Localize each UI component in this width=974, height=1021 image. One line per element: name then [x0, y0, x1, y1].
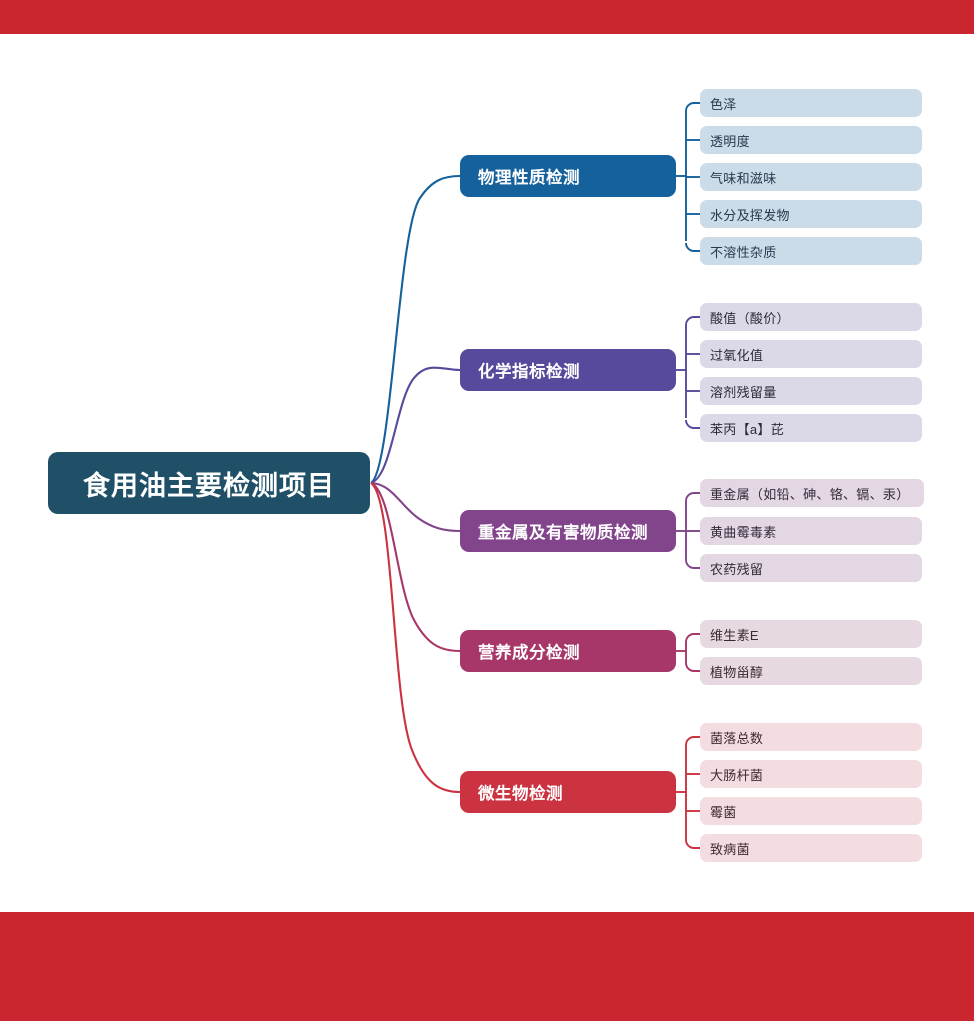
leaf-node[interactable]: 黄曲霉毒素: [700, 517, 922, 545]
bracket-branch-2: [676, 317, 700, 428]
branch-label: 营养成分检测: [478, 639, 580, 663]
leaf-label: 水分及挥发物: [710, 205, 790, 224]
leaf-label: 苯丙【a】芘: [710, 419, 784, 438]
branch-node-physical[interactable]: 物理性质检测: [460, 155, 676, 197]
leaf-node[interactable]: 苯丙【a】芘: [700, 414, 922, 442]
leaf-node[interactable]: 色泽: [700, 89, 922, 117]
bottom-red-band: [0, 912, 974, 1021]
leaf-label: 致病菌: [710, 839, 750, 858]
leaf-label: 黄曲霉毒素: [710, 522, 777, 541]
connector-root-to-branch-2: [371, 368, 460, 483]
leaf-label: 不溶性杂质: [710, 242, 777, 261]
leaf-node[interactable]: 大肠杆菌: [700, 760, 922, 788]
leaf-node[interactable]: 菌落总数: [700, 723, 922, 751]
leaf-label: 菌落总数: [710, 728, 763, 747]
leaf-label: 重金属（如铅、砷、铬、镉、汞）: [710, 484, 910, 503]
leaf-node[interactable]: 致病菌: [700, 834, 922, 862]
branch-node-heavy-metals[interactable]: 重金属及有害物质检测: [460, 510, 676, 552]
leaf-label: 酸值（酸价）: [710, 308, 790, 327]
branch-node-microbiology[interactable]: 微生物检测: [460, 771, 676, 813]
leaf-node[interactable]: 溶剂残留量: [700, 377, 922, 405]
leaf-node[interactable]: 水分及挥发物: [700, 200, 922, 228]
leaf-node[interactable]: 酸值（酸价）: [700, 303, 922, 331]
leaf-label: 溶剂残留量: [710, 382, 777, 401]
leaf-node[interactable]: 霉菌: [700, 797, 922, 825]
bracket-branch-1: [676, 103, 700, 251]
leaf-label: 透明度: [710, 131, 750, 150]
connector-root-to-branch-3: [371, 483, 460, 531]
leaf-node[interactable]: 过氧化值: [700, 340, 922, 368]
leaf-node[interactable]: 维生素E: [700, 620, 922, 648]
branch-node-nutrition[interactable]: 营养成分检测: [460, 630, 676, 672]
root-node[interactable]: 食用油主要检测项目: [48, 452, 370, 514]
leaf-label: 霉菌: [710, 802, 737, 821]
leaf-node[interactable]: 农药残留: [700, 554, 922, 582]
leaf-node[interactable]: 气味和滋味: [700, 163, 922, 191]
leaf-label: 大肠杆菌: [710, 765, 763, 784]
root-node-label: 食用油主要检测项目: [83, 464, 335, 503]
connector-root-to-branch-5: [371, 483, 460, 792]
leaf-label: 农药残留: [710, 559, 763, 578]
bracket-branch-3: [676, 493, 700, 568]
leaf-label: 过氧化值: [710, 345, 763, 364]
leaf-node[interactable]: 透明度: [700, 126, 922, 154]
leaf-label: 色泽: [710, 94, 737, 113]
leaf-node[interactable]: 不溶性杂质: [700, 237, 922, 265]
leaf-node[interactable]: 植物甾醇: [700, 657, 922, 685]
branch-label: 微生物检测: [478, 780, 563, 804]
branch-label: 化学指标检测: [478, 358, 580, 382]
leaf-label: 维生素E: [710, 625, 759, 644]
mindmap-canvas: 食用油主要检测项目 物理性质检测 化学指标检测 重金属及有害物质检测 营养成分检…: [0, 0, 974, 1021]
connector-root-to-branch-1: [371, 176, 460, 483]
branch-node-chemical[interactable]: 化学指标检测: [460, 349, 676, 391]
bracket-branch-4: [676, 634, 700, 671]
leaf-label: 气味和滋味: [710, 168, 777, 187]
branch-label: 物理性质检测: [478, 164, 580, 188]
bracket-branch-5: [676, 737, 700, 848]
branch-label: 重金属及有害物质检测: [478, 519, 648, 543]
leaf-label: 植物甾醇: [710, 662, 763, 681]
top-red-band: [0, 0, 974, 34]
connector-root-to-branch-4: [371, 483, 460, 651]
leaf-node[interactable]: 重金属（如铅、砷、铬、镉、汞）: [700, 479, 924, 507]
